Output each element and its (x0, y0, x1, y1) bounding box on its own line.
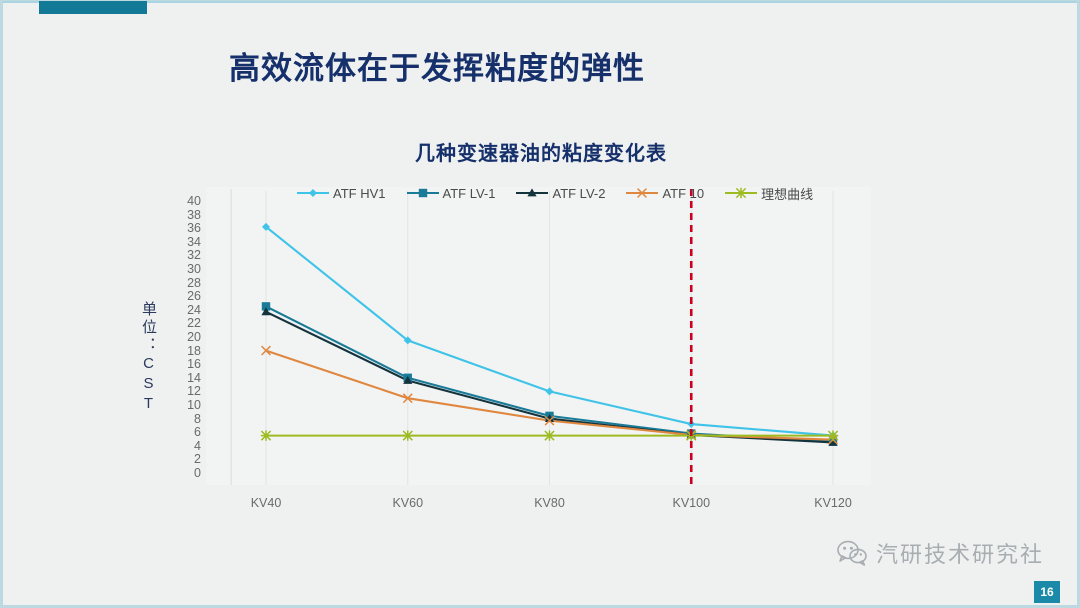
legend-item[interactable]: ATF HV1 (296, 186, 386, 201)
y-tick-label: 40 (187, 195, 201, 208)
right-border-rule (1077, 1, 1079, 608)
x-tick-label: KV80 (534, 496, 565, 510)
watermark: 汽研技术研究社 (837, 537, 1044, 569)
y-tick-label: 8 (194, 413, 201, 426)
bottom-border-rule (1, 605, 1080, 607)
x-tick-label: KV100 (672, 496, 710, 510)
y-tick-label: 2 (194, 453, 201, 466)
y-axis-title: 单位：CST (131, 301, 159, 415)
legend-label: ATF HV1 (333, 186, 386, 201)
legend-label: ATF 10 (662, 186, 704, 201)
y-tick-label: 14 (187, 372, 201, 385)
y-axis-tick-labels: 4038363432302826242220181614121086420 (173, 181, 201, 491)
data-point-square (418, 189, 426, 197)
y-tick-label: 6 (194, 426, 201, 439)
x-tick-label: KV60 (392, 496, 423, 510)
line-chart-svg (206, 187, 871, 485)
y-tick-label: 16 (187, 358, 201, 371)
data-point-diamond (309, 189, 317, 197)
left-border-rule (1, 1, 3, 608)
y-tick-label: 26 (187, 290, 201, 303)
data-point-star (544, 430, 554, 440)
data-point-star (261, 430, 271, 440)
x-tick-label: KV120 (814, 496, 852, 510)
y-tick-label: 30 (187, 263, 201, 276)
data-point-star (403, 430, 413, 440)
x-axis-tick-labels: KV40KV60KV80KV100KV120 (206, 496, 871, 516)
y-tick-label: 20 (187, 331, 201, 344)
legend-swatch-star-icon (724, 186, 758, 200)
y-tick-label: 10 (187, 399, 201, 412)
legend-swatch-triangle-icon (515, 186, 549, 200)
accent-tab (39, 1, 147, 14)
y-tick-label: 12 (187, 385, 201, 398)
y-tick-label: 22 (187, 317, 201, 330)
chart-plot-area (206, 187, 871, 485)
page-title: 高效流体在于发挥粘度的弹性 (229, 43, 645, 88)
y-tick-label: 18 (187, 345, 201, 358)
legend-label: ATF LV-1 (443, 186, 496, 201)
y-tick-label: 38 (187, 209, 201, 222)
chart-title: 几种变速器油的粘度变化表 (1, 137, 1080, 166)
wechat-icon (837, 540, 867, 566)
legend-item[interactable]: ATF LV-2 (515, 186, 605, 201)
legend-item[interactable]: 理想曲线 (724, 184, 813, 203)
legend-label: ATF LV-2 (552, 186, 605, 201)
y-tick-label: 32 (187, 249, 201, 262)
page-number-badge: 16 (1034, 581, 1060, 603)
top-border-rule (1, 1, 1080, 3)
slide-canvas: 高效流体在于发挥粘度的弹性 几种变速器油的粘度变化表 单位：CST 403836… (0, 0, 1080, 608)
data-point-star (736, 188, 746, 198)
legend-item[interactable]: ATF 10 (625, 186, 704, 201)
legend-swatch-diamond-icon (296, 186, 330, 200)
y-tick-label: 0 (194, 467, 201, 480)
legend-swatch-square-icon (406, 186, 440, 200)
legend-item[interactable]: ATF LV-1 (406, 186, 496, 201)
legend-swatch-cross-icon (625, 186, 659, 200)
y-tick-label: 36 (187, 222, 201, 235)
x-tick-label: KV40 (251, 496, 282, 510)
chart-legend: ATF HV1ATF LV-1ATF LV-2ATF 10理想曲线 (296, 184, 813, 202)
data-point-star (828, 430, 838, 440)
data-point-diamond (546, 387, 554, 395)
y-tick-label: 24 (187, 304, 201, 317)
y-tick-label: 4 (194, 440, 201, 453)
watermark-text: 汽研技术研究社 (876, 537, 1044, 569)
legend-label: 理想曲线 (761, 184, 813, 203)
y-tick-label: 28 (187, 277, 201, 290)
y-tick-label: 34 (187, 236, 201, 249)
